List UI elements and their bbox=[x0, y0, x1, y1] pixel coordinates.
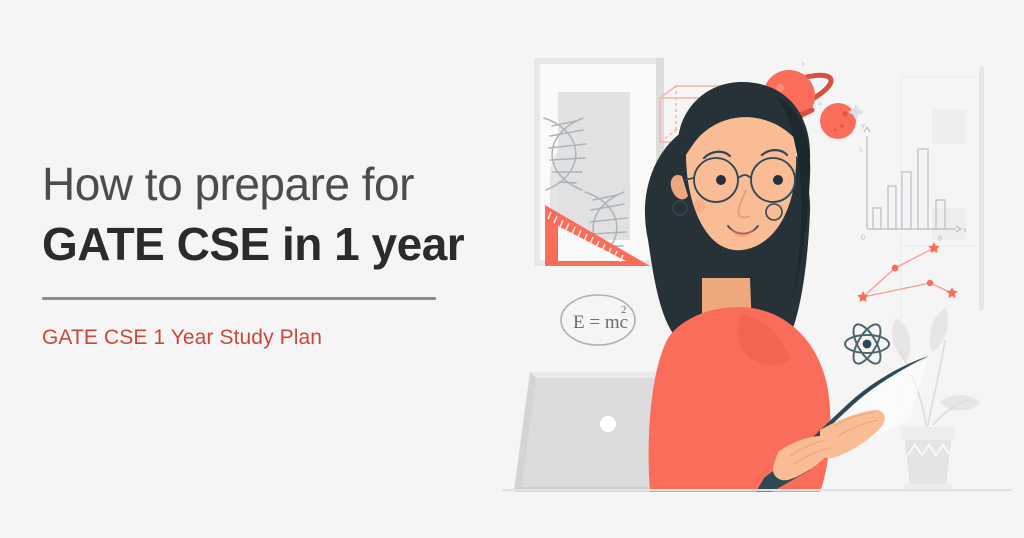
page-subtitle: GATE CSE 1 Year Study Plan bbox=[42, 326, 462, 350]
plant-pot bbox=[904, 433, 952, 486]
hero-illustration: h bbox=[490, 0, 1024, 538]
formula-exponent: 2 bbox=[621, 304, 627, 316]
title-divider bbox=[42, 297, 436, 300]
desk-line bbox=[502, 489, 1012, 491]
eye-right bbox=[773, 175, 783, 185]
chart-y-label: y bbox=[861, 121, 865, 130]
chart-x-label: x bbox=[963, 225, 967, 234]
eye-left bbox=[716, 175, 726, 185]
banner-root: How to prepare for GATE CSE in 1 year GA… bbox=[0, 0, 1024, 538]
laptop-logo bbox=[600, 416, 616, 432]
chart-y-tick: 5 bbox=[859, 146, 863, 154]
text-block: How to prepare for GATE CSE in 1 year GA… bbox=[42, 158, 462, 350]
chart-tick-label: 8 bbox=[938, 234, 942, 243]
page-title-line-1: How to prepare for bbox=[42, 158, 462, 211]
chart-origin-label: 0 bbox=[861, 233, 865, 242]
woman-figure bbox=[645, 82, 830, 492]
formula-text: E = mc bbox=[573, 312, 628, 333]
page-title-line-2: GATE CSE in 1 year bbox=[42, 217, 462, 272]
small-planet bbox=[820, 103, 856, 139]
